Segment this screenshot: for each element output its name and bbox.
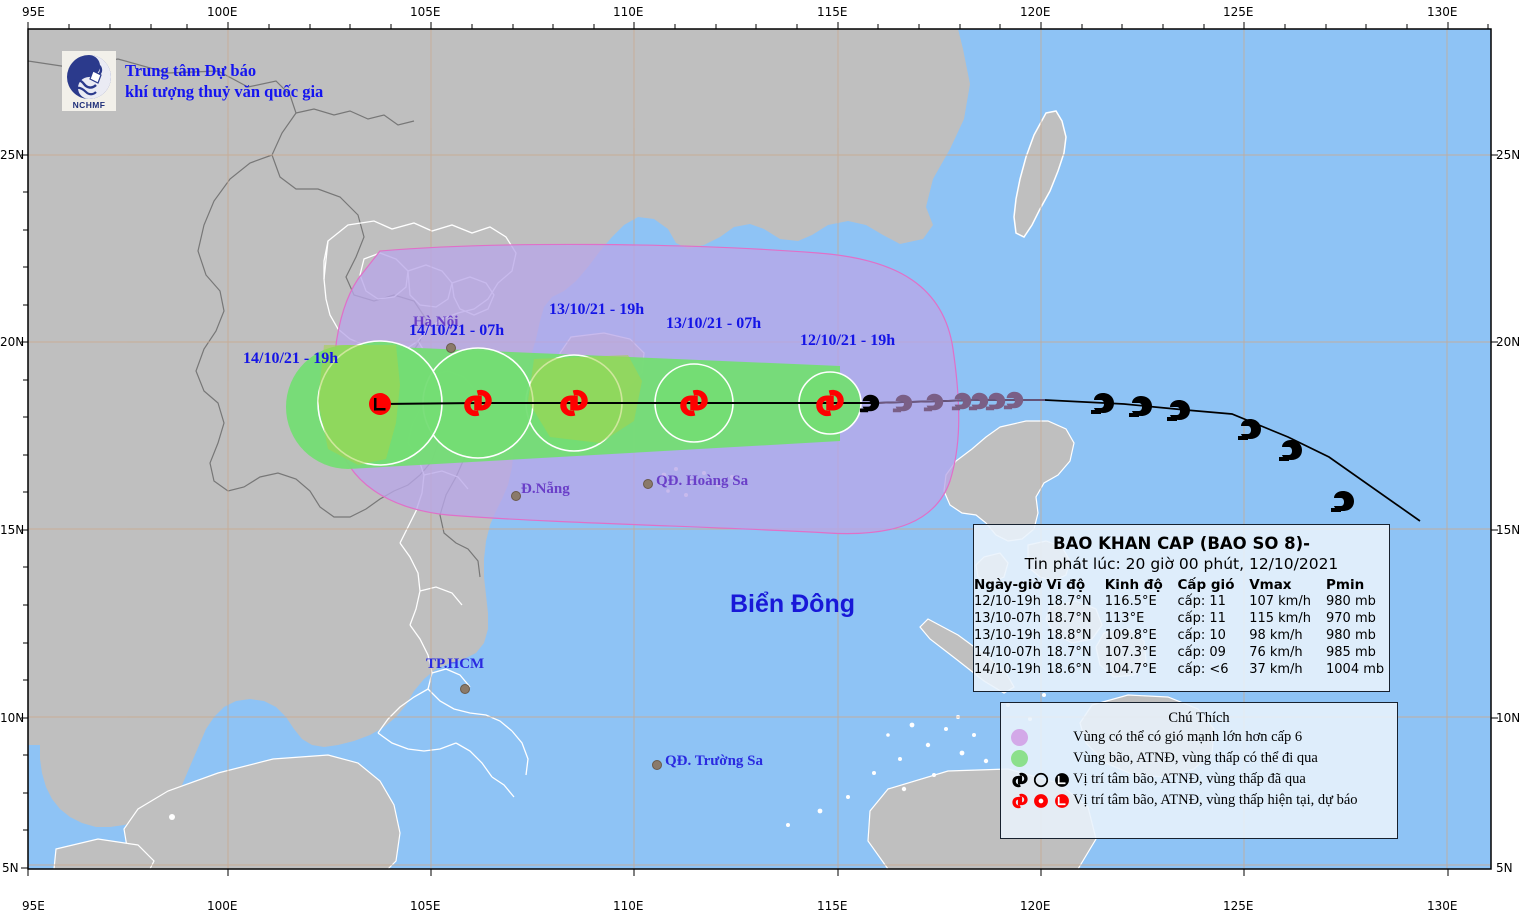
legend-icon-group	[1007, 792, 1073, 810]
city-dot-danang	[511, 491, 521, 501]
col-longitude: Kinh độ	[1095, 577, 1168, 594]
legend-item-gale-zone: Vùng có thể có gió mạnh lớn hơn cấp 6	[1007, 727, 1397, 748]
forecast-time-label-12-10-19h: 12/10/21 - 19h	[800, 332, 895, 350]
x-tick-label: 105E	[410, 5, 441, 19]
legend-item-current-forecast-positions: Vị trí tâm bão, ATNĐ, vùng thấp hiện tại…	[1007, 790, 1397, 811]
city-label-hcmc: TP.HCM	[426, 656, 484, 673]
y-tick-label: 10N	[1496, 711, 1519, 725]
col-datetime: Ngày-giờ	[974, 577, 1046, 594]
y-tick-label: 15N	[0, 523, 24, 537]
table-row: 14/10-19h 18.6°N 104.7°E cấp: <6 37 km/h…	[974, 662, 1389, 679]
island-dot-truongsa	[652, 760, 662, 770]
nchmf-logo-block: NCHMF Trung tâm Dự báo khí tượng thuỷ vă…	[62, 51, 323, 111]
legend-icon-group	[1007, 750, 1073, 767]
x-tick-label: 95E	[22, 5, 45, 19]
x-tick-label: 100E	[207, 5, 238, 19]
cyclone-black-icon	[1011, 771, 1029, 789]
green-zone-swatch-icon	[1011, 750, 1028, 767]
low-red-icon	[1053, 792, 1071, 810]
y-tick-label: 10N	[0, 711, 24, 725]
sea-label-bien-dong: Biển Đông	[730, 590, 855, 619]
y-tick-label: 25N	[1496, 148, 1519, 162]
x-tick-label: 120E	[1020, 899, 1051, 913]
table-row: 13/10-19h 18.8°N 109.8°E cấp: 10 98 km/h…	[974, 628, 1389, 645]
table-row: 13/10-07h 18.7°N 113°E cấp: 11 115 km/h …	[974, 611, 1389, 628]
nchmf-logo-icon: NCHMF	[62, 51, 116, 111]
legend-label: Vị trí tâm bão, ATNĐ, vùng thấp đã qua	[1073, 771, 1306, 788]
city-dot-hcmc	[460, 684, 470, 694]
x-tick-label: 110E	[613, 899, 644, 913]
legend-label: Vị trí tâm bão, ATNĐ, vùng thấp hiện tại…	[1073, 792, 1358, 809]
legend-title: Chú Thích	[1001, 710, 1397, 727]
org-name-line1: Trung tâm Dự báo	[125, 60, 323, 81]
col-vmax: Vmax	[1239, 577, 1316, 594]
city-dot-hanoi	[446, 343, 456, 353]
org-name-line2: khí tượng thuỷ văn quốc gia	[125, 81, 323, 102]
storm-track-map-page: Hà Nội Đ.Nẵng TP.HCM QĐ. Hoàng Sa QĐ. Tr…	[0, 0, 1519, 919]
legend-label: Vùng bão, ATNĐ, vùng thấp có thể đi qua	[1073, 750, 1318, 767]
violet-zone-swatch-icon	[1011, 729, 1028, 746]
table-row: 12/10-19h 18.7°N 116.5°E cấp: 11 107 km/…	[974, 594, 1389, 611]
col-windlevel: Cấp gió	[1168, 577, 1240, 594]
low-pressure-symbol-14-10-19h	[369, 393, 391, 415]
legend-label: Vùng có thể có gió mạnh lớn hơn cấp 6	[1073, 729, 1302, 746]
x-tick-label: 125E	[1223, 899, 1254, 913]
legend-icon-group	[1007, 729, 1073, 746]
x-tick-label: 125E	[1223, 5, 1254, 19]
x-tick-label: 115E	[817, 899, 848, 913]
x-tick-label: 130E	[1427, 5, 1458, 19]
y-tick-label: 15N	[1496, 523, 1519, 537]
nchmf-logo-caption: NCHMF	[62, 100, 116, 110]
x-tick-label: 105E	[410, 899, 441, 913]
x-tick-label: 110E	[613, 5, 644, 19]
low-black-icon	[1053, 771, 1071, 789]
y-tick-label: 20N	[0, 335, 24, 349]
table-row: 14/10-07h 18.7°N 107.3°E cấp: 09 76 km/h…	[974, 645, 1389, 662]
x-tick-label: 115E	[817, 5, 848, 19]
storm-info-panel: BAO KHAN CAP (BAO SO 8)- Tin phát lúc: 2…	[973, 524, 1390, 692]
x-tick-label: 120E	[1020, 5, 1051, 19]
forecast-track-line	[380, 403, 874, 404]
legend-item-past-positions: Vị trí tâm bão, ATNĐ, vùng thấp đã qua	[1007, 769, 1397, 790]
org-name: Trung tâm Dự báo khí tượng thuỷ văn quốc…	[125, 60, 323, 102]
legend-icon-group	[1007, 771, 1073, 789]
forecast-time-label-13-10-07h: 13/10/21 - 07h	[666, 315, 761, 333]
storm-info-issue-time: Tin phát lúc: 20 giờ 00 phút, 12/10/2021	[974, 555, 1389, 573]
x-tick-label: 130E	[1427, 899, 1458, 913]
island-dot-hoangsa	[643, 479, 653, 489]
col-pmin: Pmin	[1316, 577, 1389, 594]
y-tick-label: 20N	[1496, 335, 1519, 349]
forecast-time-label-13-10-19h: 13/10/21 - 19h	[549, 301, 644, 319]
legend-item-track-zone: Vùng bão, ATNĐ, vùng thấp có thể đi qua	[1007, 748, 1397, 769]
forecast-table-header-row: Ngày-giờ Vĩ độ Kinh độ Cấp gió Vmax Pmin	[974, 577, 1389, 594]
forecast-time-label-14-10-19h: 14/10/21 - 19h	[243, 350, 338, 368]
cyclone-red-icon	[1011, 792, 1029, 810]
depression-red-icon	[1032, 792, 1050, 810]
x-tick-label: 100E	[207, 899, 238, 913]
forecast-table: Ngày-giờ Vĩ độ Kinh độ Cấp gió Vmax Pmin…	[974, 577, 1389, 678]
island-label-hoangsa: QĐ. Hoàng Sa	[656, 473, 748, 490]
x-tick-label: 95E	[22, 899, 45, 913]
y-tick-label: 5N	[1496, 861, 1513, 875]
y-tick-label: 5N	[2, 861, 19, 875]
col-latitude: Vĩ độ	[1046, 577, 1094, 594]
city-label-danang: Đ.Nẵng	[521, 481, 570, 498]
island-label-truongsa: QĐ. Trường Sa	[665, 753, 763, 770]
forecast-time-label-14-10-07h: 14/10/21 - 07h	[409, 322, 504, 340]
y-tick-label: 25N	[0, 148, 24, 162]
storm-info-title: BAO KHAN CAP (BAO SO 8)-	[974, 534, 1389, 553]
depression-black-icon	[1032, 771, 1050, 789]
legend-panel: Chú Thích Vùng có thể có gió mạnh lớn hơ…	[1000, 702, 1398, 839]
